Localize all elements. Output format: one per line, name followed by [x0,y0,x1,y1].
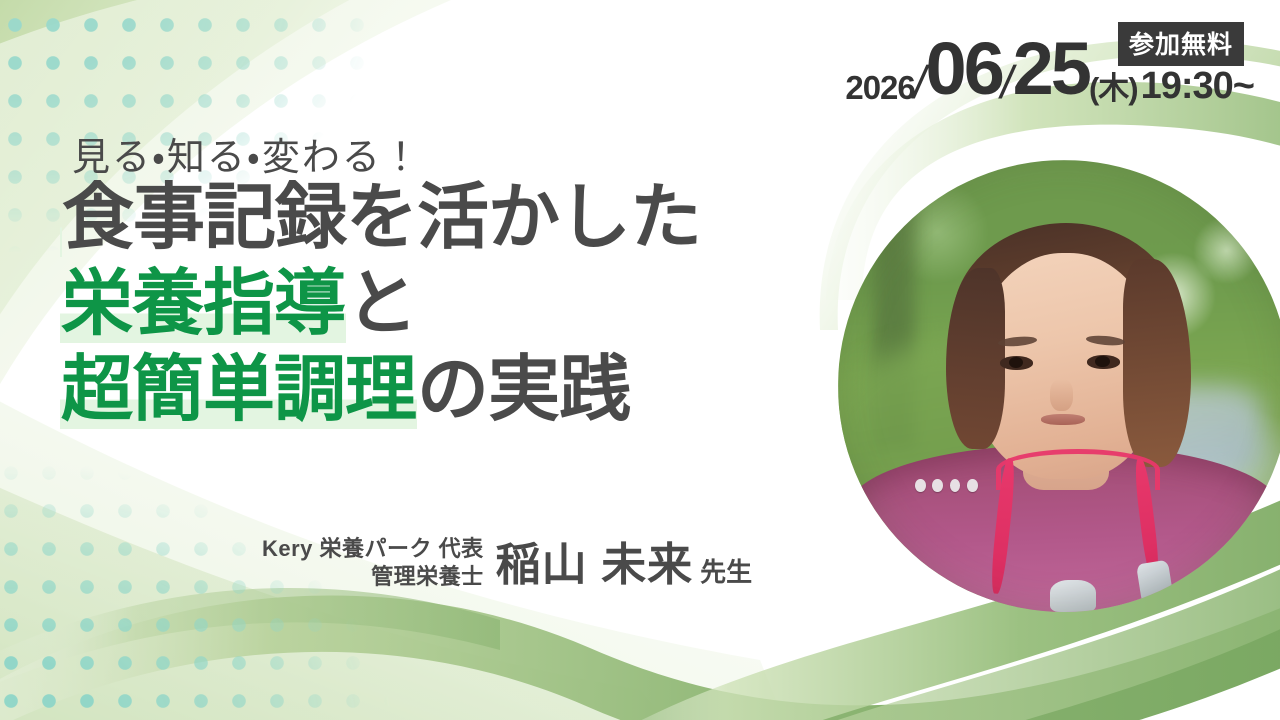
presenter-photo [838,160,1280,612]
presenter-honorific: 先生 [700,552,752,593]
presenter-credit: Kery 栄養パーク 代表 管理栄養士 稲山 未来 先生 [262,528,752,593]
title-line-3: 超簡単調理の実践 [60,354,701,426]
date-year: 2026 [845,71,914,106]
title-line-2: 栄養指導と [60,268,701,340]
presenter-org-line-2: 管理栄養士 [371,563,484,591]
ribbon-bottom-4 [0,588,500,690]
seminar-subtitle: 見る・知る・変わる！ [72,126,422,181]
title-line-2-plain: と [346,264,417,344]
photo-vignette [838,160,1280,612]
date-month: 06 [926,32,1002,106]
event-time: 19:30~ [1141,67,1254,106]
presenter-org-line-1: Kery 栄養パーク 代表 [262,535,484,563]
title-line-1: 食事記録を活かした [60,182,701,254]
free-entry-badge: 参加無料 [1118,22,1244,66]
title-line-3-highlight: 超簡単調理 [60,350,417,430]
presenter-photo-circle [838,160,1280,612]
swoosh-bottom-left-1 [0,470,700,720]
presenter-name: 稲山 未来 [496,528,694,593]
date-day: 25 [1013,32,1089,106]
seminar-title: 食事記録を活かした 栄養指導と 超簡単調理の実践 [60,182,701,426]
presenter-organization: Kery 栄養パーク 代表 管理栄養士 [262,535,484,593]
title-line-1-plain: 食事記録を活かした [62,178,701,258]
title-line-3-plain: の実践 [417,350,630,430]
seminar-flyer: 2026 / 06 / 25 (木) 19:30~ 参加無料 見る・知る・変わる… [0,0,1280,720]
date-day-of-week: (木) [1089,73,1138,106]
title-line-2-highlight: 栄養指導 [60,264,346,344]
ribbon-bottom-1 [0,595,1280,720]
